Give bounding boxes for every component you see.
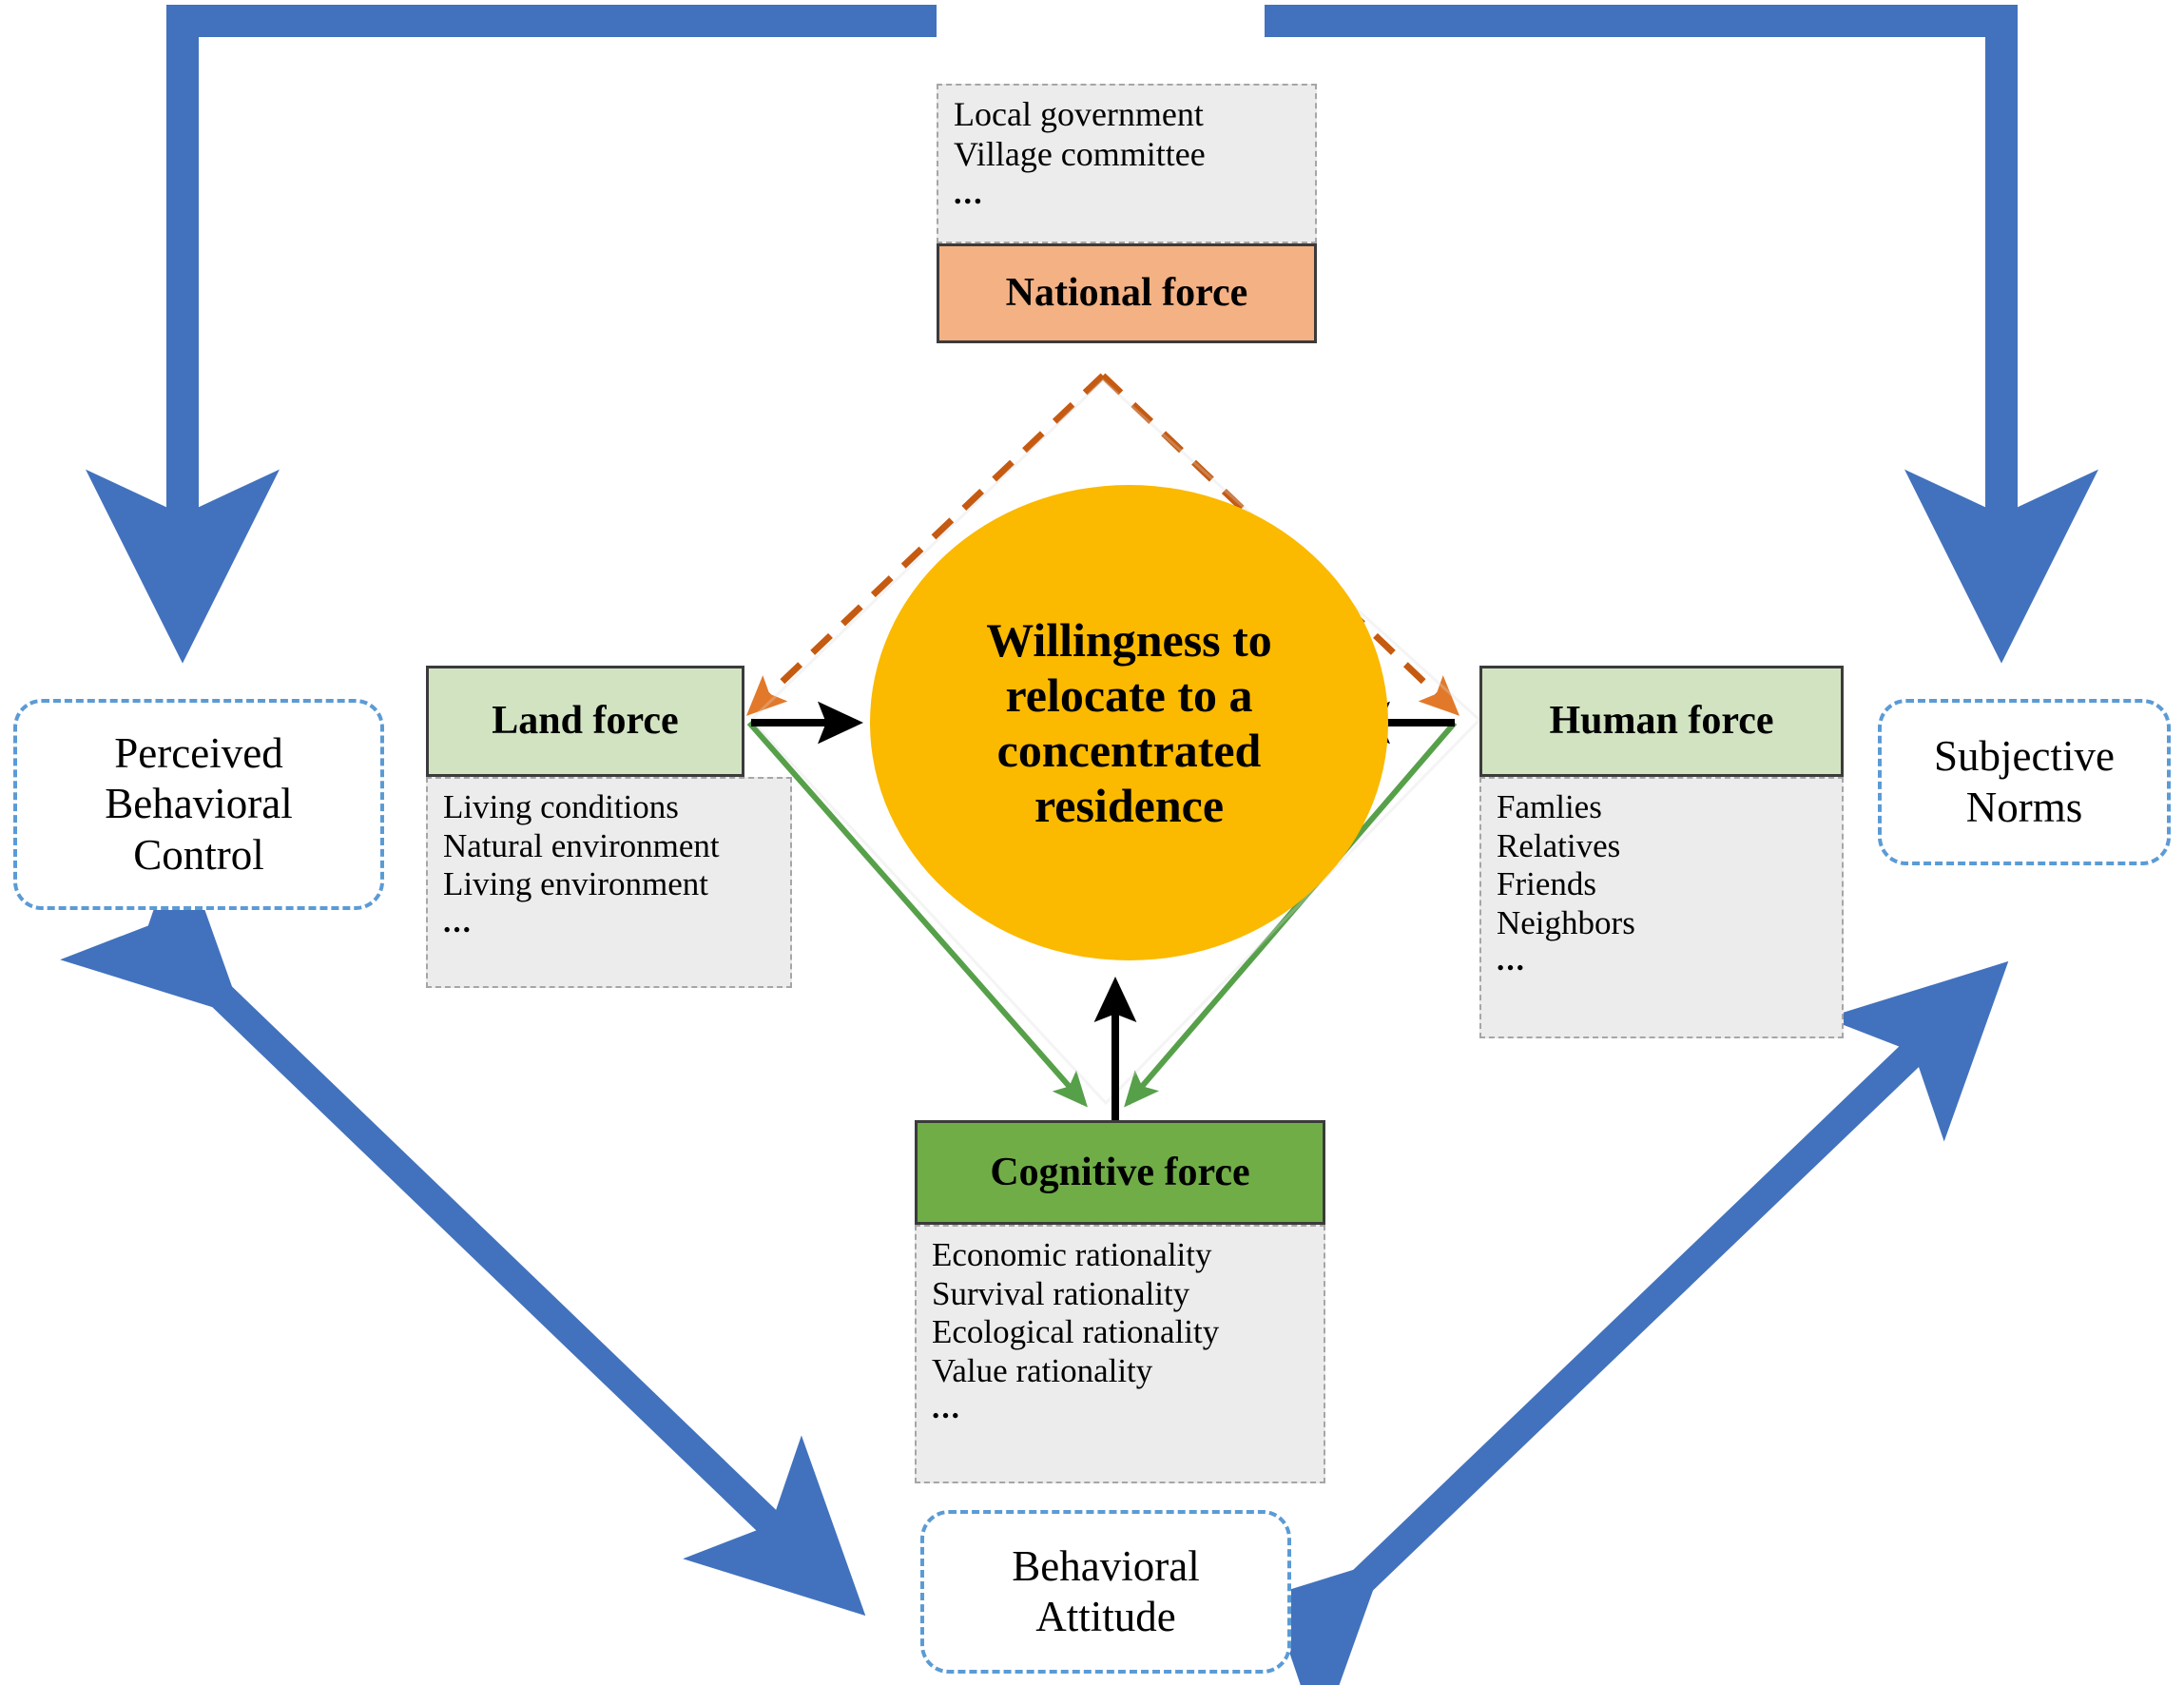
national-force-ellipsis: ... xyxy=(954,175,1300,213)
cognitive-force-attribute: Ecological rationality xyxy=(932,1313,1308,1352)
national-force-attributes: Local government Village committee ... xyxy=(937,84,1317,243)
national-force-attribute: Local government xyxy=(954,95,1300,135)
cognitive-force-label: Cognitive force xyxy=(990,1151,1249,1194)
cognitive-force-ellipsis: ... xyxy=(932,1390,1308,1427)
human-force-attribute: Relatives xyxy=(1497,827,1826,866)
center-circle-label: Willingness to relocate to a concentrate… xyxy=(912,612,1346,833)
national-force-box[interactable]: National force xyxy=(937,243,1317,343)
tpb-behavioral-attitude[interactable]: Behavioral Attitude xyxy=(920,1510,1291,1674)
cognitive-force-attribute: Value rationality xyxy=(932,1352,1308,1391)
human-force-attribute: Neighbors xyxy=(1497,904,1826,943)
human-force-label: Human force xyxy=(1549,699,1773,743)
land-force-attribute: Living conditions xyxy=(443,788,775,827)
arrow-pbc-behavioral-attitude xyxy=(214,989,837,1588)
human-force-attribute: Famlies xyxy=(1497,788,1826,827)
land-force-attributes: Living conditions Natural environment Li… xyxy=(426,777,792,988)
national-force-label: National force xyxy=(1006,271,1248,315)
human-force-box[interactable]: Human force xyxy=(1479,666,1844,777)
human-force-ellipsis: ... xyxy=(1497,942,1826,979)
tpb-subjective-norms[interactable]: Subjective Norms xyxy=(1878,699,2171,865)
tpb-pbc-label: Perceived Behavioral Control xyxy=(42,728,356,880)
land-force-box[interactable]: Land force xyxy=(426,666,744,777)
tpb-perceived-behavioral-control[interactable]: Perceived Behavioral Control xyxy=(13,699,384,910)
cognitive-force-attributes: Economic rationality Survival rationalit… xyxy=(915,1225,1325,1483)
center-circle[interactable]: Willingness to relocate to a concentrate… xyxy=(870,485,1388,960)
diagram-canvas: Local government Village committee ... N… xyxy=(0,0,2184,1685)
land-force-attribute: Natural environment xyxy=(443,827,775,866)
human-force-attributes: Famlies Relatives Friends Neighbors ... xyxy=(1479,777,1844,1038)
land-force-attribute: Living environment xyxy=(443,865,775,904)
arrow-national-to-subjective-norms xyxy=(1265,21,2001,618)
national-force-attribute: Village committee xyxy=(954,135,1300,175)
cognitive-force-attribute: Economic rationality xyxy=(932,1236,1308,1275)
cognitive-force-attribute: Survival rationality xyxy=(932,1275,1308,1314)
tpb-subjective-norms-label: Subjective Norms xyxy=(1897,731,2152,832)
human-force-attribute: Friends xyxy=(1497,865,1826,904)
arrow-subjective-norms-behavioral-attitude xyxy=(1355,989,1980,1588)
tpb-behavioral-attitude-label: Behavioral Attitude xyxy=(943,1541,1268,1642)
land-force-label: Land force xyxy=(492,699,678,743)
arrow-national-to-pbc xyxy=(183,21,937,618)
cognitive-force-box[interactable]: Cognitive force xyxy=(915,1120,1325,1225)
land-force-ellipsis: ... xyxy=(443,904,775,941)
